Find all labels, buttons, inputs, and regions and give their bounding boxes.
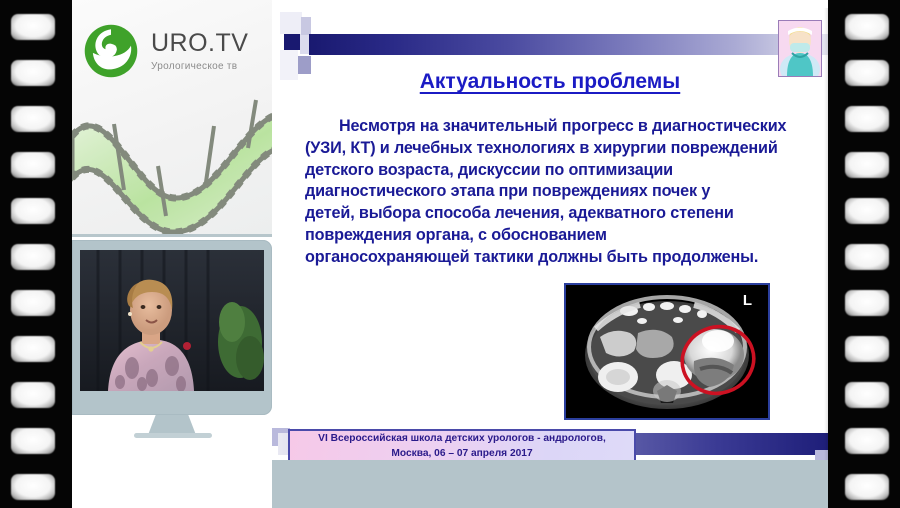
green-film-strip-wave-icon (72, 86, 272, 236)
slide-top-gradient-bar (309, 34, 828, 55)
film-sprocket-icon (11, 106, 55, 132)
film-sprocket-icon (11, 336, 55, 362)
branding-area: URO.TV Урологическое тв (72, 0, 272, 237)
film-sprocket-icon (11, 152, 55, 178)
footer-line-1: VI Всероссийская школа детских урологов … (318, 432, 606, 447)
film-sprocket-icon (845, 244, 889, 270)
ct-orientation-marker: L (743, 292, 752, 309)
film-sprocket-icon (11, 382, 55, 408)
film-sprocket-icon (845, 106, 889, 132)
film-sprocket-icon (845, 290, 889, 316)
film-sprocket-icon (845, 428, 889, 454)
left-filmstrip-border (0, 0, 72, 508)
film-sprocket-icon (11, 198, 55, 224)
deco-square (284, 34, 300, 50)
film-sprocket-icon (11, 60, 55, 86)
film-sprocket-icon (845, 382, 889, 408)
presentation-slide: Актуальность проблемы Несмотря на значит… (272, 8, 828, 460)
film-sprocket-icon (11, 428, 55, 454)
slide-body-text: Несмотря на значительный прогресс в диаг… (305, 116, 828, 268)
body-line: детского возраста, дискуссии по оптимиза… (305, 160, 828, 182)
monitor-stand (148, 415, 196, 435)
footer-line-2: Москва, 06 – 07 апреля 2017 (391, 447, 532, 460)
body-line: (УЗИ, КТ) и лечебных технологиях в хирур… (305, 138, 828, 160)
video-screen[interactable] (80, 250, 264, 391)
deco-square (301, 17, 311, 35)
branding-divider (72, 234, 272, 237)
abdominal-ct-scan-image: L (564, 283, 770, 420)
film-sprocket-icon (11, 244, 55, 270)
film-sprocket-icon (845, 198, 889, 224)
film-sprocket-icon (845, 14, 889, 40)
film-sprocket-icon (11, 290, 55, 316)
brand-logo-row[interactable]: URO.TV Урологическое тв (82, 22, 248, 80)
slide-title: Актуальность проблемы (272, 70, 828, 94)
content-viewport: URO.TV Урологическое тв (72, 0, 828, 508)
body-line: органосохраняющей тактики должны быть пр… (305, 247, 828, 269)
video-monitor-frame (72, 240, 272, 415)
brand-subtitle: Урологическое тв (151, 62, 248, 72)
slide-footer-banner: VI Всероссийская школа детских урологов … (288, 429, 636, 460)
body-line: детей, выбора способа лечения, адекватно… (305, 203, 828, 225)
surgeon-clipart-icon (778, 20, 822, 77)
body-line: Несмотря на значительный прогресс в диаг… (339, 117, 786, 135)
green-circle-swirl-logo-icon (82, 22, 140, 80)
player-left-panel: URO.TV Урологическое тв (72, 0, 272, 508)
film-sprocket-icon (11, 14, 55, 40)
right-filmstrip-border (828, 0, 900, 508)
deco-square (280, 12, 302, 34)
video-player-stage: URO.TV Урологическое тв (0, 0, 900, 508)
body-line: повреждения органа, с обоснованием (305, 225, 828, 247)
film-sprocket-icon (845, 336, 889, 362)
brand-title: URO.TV (151, 31, 248, 56)
speaker-video-frame (80, 250, 264, 391)
body-line: диагностического этапа при повреждениях … (305, 181, 828, 203)
film-sprocket-icon (11, 474, 55, 500)
film-sprocket-icon (845, 474, 889, 500)
film-sprocket-icon (845, 152, 889, 178)
monitor-foot (134, 433, 212, 438)
film-sprocket-icon (845, 60, 889, 86)
